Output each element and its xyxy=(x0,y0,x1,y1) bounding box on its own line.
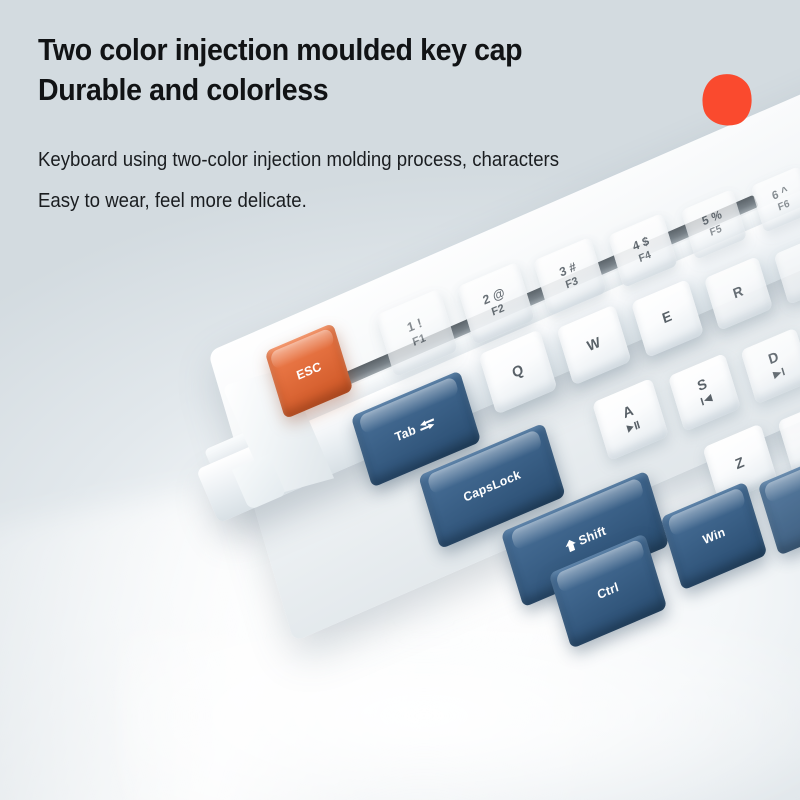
keycap-sublegend: F1 xyxy=(411,332,427,349)
keycap-legend: S xyxy=(696,376,709,395)
keycap-legend: CapsLock xyxy=(462,467,523,504)
product-hero-image: Two color injection moulded key cap Dura… xyxy=(0,0,800,800)
keycap-legend: E xyxy=(661,309,674,328)
page-title: Two color injection moulded key cap Dura… xyxy=(38,30,682,111)
next-track-icon xyxy=(771,367,785,382)
keycap-sublegend: F6 xyxy=(777,199,792,215)
keycap-sublegend: F5 xyxy=(709,224,724,240)
keycap-surface: Win xyxy=(660,481,767,590)
keycap-legend: Shift xyxy=(577,524,608,549)
keycap-sublegend: F2 xyxy=(490,303,506,320)
shift-arrow-icon xyxy=(562,536,578,554)
keycap-legend: Z xyxy=(734,455,747,474)
keycap-legend: Q xyxy=(510,362,525,382)
play-pause-icon xyxy=(625,420,641,436)
keycap-sublegend: F4 xyxy=(638,250,653,266)
keycap-win[interactable]: Win xyxy=(660,481,767,590)
keyboard-product: ESC1 !F12 @F23 #F34 $F45 %F56 ^F6QWERTAS… xyxy=(0,0,800,800)
prev-track-icon xyxy=(700,394,715,410)
page-subtitle: Keyboard using two-color injection moldi… xyxy=(38,140,745,222)
keycap-sublegend: F3 xyxy=(565,276,581,293)
desk-highlight xyxy=(120,620,800,800)
keycap-legend: ESC xyxy=(295,359,323,383)
keycap-legend: Win xyxy=(701,525,727,548)
keycap-legend: Tab xyxy=(393,422,417,444)
keycap-legend: Ctrl xyxy=(596,580,621,602)
keycap-legend: W xyxy=(585,335,602,356)
tab-arrows-icon xyxy=(417,415,439,433)
keycap-legend: R xyxy=(732,284,746,303)
keycap-legend: A xyxy=(621,403,636,423)
keycap-legend: D xyxy=(767,350,781,369)
